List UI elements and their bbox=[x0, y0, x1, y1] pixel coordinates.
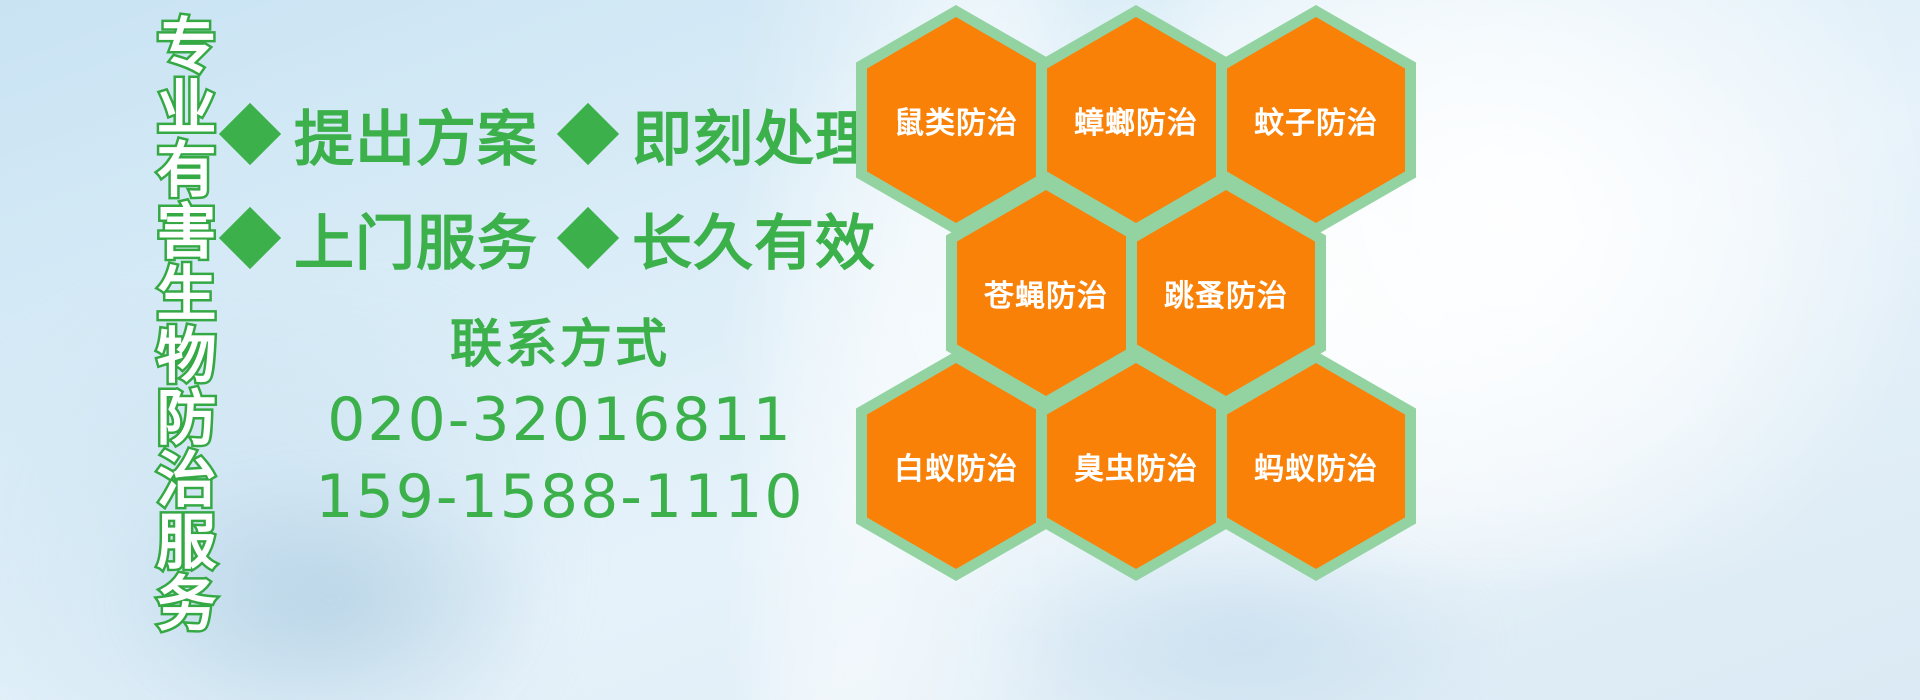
service-label-bedbug: 臭虫防治 bbox=[1074, 444, 1198, 488]
diamond-icon bbox=[219, 103, 281, 165]
service-label-flea: 跳蚤防治 bbox=[1164, 271, 1288, 315]
service-hexagon-bedbug[interactable]: 臭虫防治 bbox=[1036, 351, 1236, 581]
service-hexagon-ant[interactable]: 蚂蚁防治 bbox=[1216, 351, 1416, 581]
feature-list: 提出方案 即刻处理 上门服务 长久有效 bbox=[228, 86, 868, 286]
feature-row-2: 上门服务 长久有效 bbox=[228, 190, 868, 286]
diamond-icon bbox=[557, 207, 619, 269]
service-hexagon-grid: 鼠类防治 蟑螂防治 蚊子防治 苍蝇防治 跳蚤防治 白蚁防治 bbox=[856, 0, 1476, 580]
vertical-headline: 专业有害生物防治服务 bbox=[108, 14, 212, 574]
service-label-cockroach: 蟑螂防治 bbox=[1074, 98, 1198, 142]
feature-label-onsite-service: 上门服务 bbox=[294, 195, 538, 282]
feature-label-long-lasting: 长久有效 bbox=[632, 195, 876, 282]
service-hexagon-termite[interactable]: 白蚁防治 bbox=[856, 351, 1056, 581]
service-label-rodent: 鼠类防治 bbox=[894, 98, 1018, 142]
pest-control-banner: 专业有害生物防治服务 提出方案 即刻处理 上门服务 长久有效 联系方式 020-… bbox=[0, 0, 1920, 700]
contact-heading: 联系方式 bbox=[250, 316, 870, 376]
service-label-fly: 苍蝇防治 bbox=[984, 271, 1108, 315]
feature-label-propose-plan: 提出方案 bbox=[294, 91, 538, 178]
contact-phone-mobile[interactable]: 159-1588-1110 bbox=[250, 459, 870, 536]
feature-row-1: 提出方案 即刻处理 bbox=[228, 86, 868, 182]
feature-label-immediate-handling: 即刻处理 bbox=[632, 91, 876, 178]
service-label-ant: 蚂蚁防治 bbox=[1254, 444, 1378, 488]
service-label-mosquito: 蚊子防治 bbox=[1254, 98, 1378, 142]
contact-block: 联系方式 020-32016811 159-1588-1110 bbox=[250, 316, 870, 535]
service-label-termite: 白蚁防治 bbox=[894, 444, 1018, 488]
contact-phone-landline[interactable]: 020-32016811 bbox=[250, 382, 870, 459]
diamond-icon bbox=[219, 207, 281, 269]
diamond-icon bbox=[557, 103, 619, 165]
